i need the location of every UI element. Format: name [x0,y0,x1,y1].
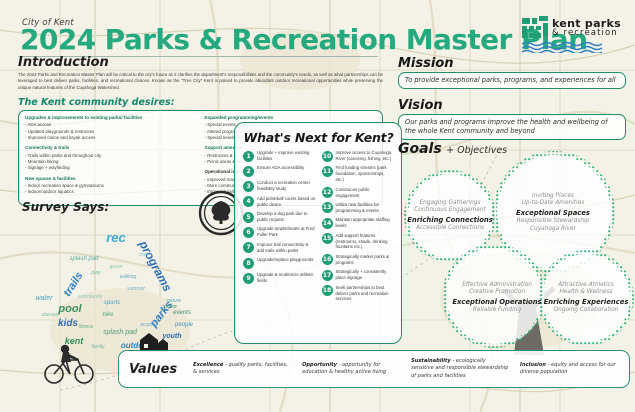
item-text: Develop a dog park due to public request [257,211,316,223]
item-text: Upgrade amphitheatre at Fred Fuller Park [257,226,316,238]
whats-next-item[interactable]: 4Add pickleball courts based on public d… [243,196,316,208]
vision-heading: Vision [398,98,626,113]
desires-list: ADA access Updated playgrounds & restroo… [25,122,197,141]
word-play: play [90,270,101,276]
goal-objective: Ongoing Collaboration [554,307,619,315]
desires-group-heading: New spaces & facilities [25,176,197,182]
goals-heading-bold: Goals [398,141,442,157]
item-number-badge: 4 [243,196,254,207]
item-text: Maintain appropriate staffing levels [336,217,395,229]
value-sustainability: Sustainability - ecologically sensitive … [411,358,510,380]
whats-next-item[interactable]: 11Find funding streams (park foundation,… [322,165,395,183]
value-excellence: Excellence - quality parks, facilities, … [193,362,292,377]
goal-objective: Accessible Connections [416,225,484,233]
value-name: Opportunity [302,362,337,368]
goal-circle-enriching-experiences: Attractive Athletics Health & Wellness E… [538,250,634,346]
whats-next-item[interactable]: 6Upgrade amphitheatre at Fred Fuller Par… [243,226,316,238]
item-text: Continuous public engagement [336,187,395,199]
word-filler-2: river [139,252,149,258]
goal-objective: Attractive Athletics [558,282,614,290]
desires-item: Improved canoe and kayak access [25,135,197,141]
goal-objective: Inviting Places [532,193,574,201]
vision-statement: Our parks and programs improve the healt… [398,114,626,140]
desires-group-heading: Upgrades & improvements to existing park… [25,115,197,121]
item-text: Strategically + consistently place signa… [336,269,395,281]
item-text: Improve trail connectivity & add trails … [257,242,316,254]
item-number-badge: 13 [322,202,333,213]
whats-next-item[interactable]: 12Continuous public engagement [322,187,395,199]
whats-next-item[interactable]: 18Seek partnerships to best deliver park… [322,285,395,303]
word-sports: sports [104,300,120,306]
item-number-badge: 10 [322,151,333,162]
introduction-body: The 2024 Parks and Recreation Master Pla… [18,72,383,91]
word-people: people [174,322,194,328]
item-number-badge: 16 [322,254,333,265]
word-indoor: indoor [163,304,177,310]
word-classes: classes [42,312,59,318]
mission-heading: Mission [398,56,626,71]
goal-objective: Responsible Stewardship [517,218,590,226]
whats-next-item[interactable]: 14Maintain appropriate staffing levels [322,217,395,229]
word-splash-pad: splash pad [69,256,99,262]
survey-word-cloud: rec programs trails pool kids parks wate… [24,216,234,356]
desires-column-left: Upgrades & improvements to existing park… [25,115,197,200]
whats-next-item[interactable]: 10Improve access to Cuyahoga River (cano… [322,150,395,162]
word-summer: summer [127,286,145,292]
goal-objective: Effective Administration [462,282,532,290]
word-access: access [140,322,156,328]
whats-next-panel: What's Next for Kent? 1Upgrade + improve… [234,122,402,344]
word-kids: kids [58,318,78,329]
value-name: Inclusion [520,362,546,368]
item-number-badge: 17 [322,270,333,281]
values-label: Values [129,362,177,377]
whats-next-item[interactable]: 16Strategically market parks & programs [322,254,395,266]
goal-objective: Cuyahoga River [530,226,576,234]
value-name: Excellence [193,362,223,368]
item-number-badge: 8 [243,258,254,269]
goal-circle-exceptional-operations: Effective Administration Creative Promot… [442,246,552,350]
desires-group-heading: Expanded programming/events [205,115,377,121]
item-number-badge: 1 [243,151,254,162]
desires-item: Indoor/outdoor aquatics [25,189,197,195]
whats-next-item[interactable]: 9Upgrade & modernize athletic fields [243,272,316,284]
item-text: Improve access to Cuyahoga River (canoei… [336,150,395,162]
word-filler-1: community [78,294,103,300]
item-text: Utilize new facilities for programming &… [336,202,395,214]
whats-next-item[interactable]: 15Add support features (restrooms, shade… [322,233,395,251]
item-number-badge: 3 [243,181,254,192]
survey-section: Survey Says: [22,200,109,214]
word-bike: bike [102,312,114,318]
community-desires-heading: The Kent community desires: [18,97,383,108]
desires-list: Indoor recreation space & gymnasiums Ind… [25,183,197,196]
word-events: events [173,310,191,316]
whats-next-item[interactable]: 7Improve trail connectivity & add trails… [243,242,316,254]
item-number-badge: 7 [243,242,254,253]
item-number-badge: 9 [243,273,254,284]
word-fitness: fitness [79,324,94,330]
whats-next-item[interactable]: 17Strategically + consistently place sig… [322,269,395,281]
item-number-badge: 18 [322,285,333,296]
whats-next-item[interactable]: 8Upgrade/replace playgrounds [243,257,316,269]
item-number-badge: 12 [322,187,333,198]
whats-next-column-right: 10Improve access to Cuyahoga River (cano… [322,150,395,302]
whats-next-item[interactable]: 1Upgrade + improve existing facilities [243,150,316,162]
desires-item: Signage + wayfinding [25,165,197,171]
goal-objective: Health & Wellness [559,289,612,297]
item-text: Upgrade + improve existing facilities [257,150,316,162]
vision-section: Vision Our parks and programs improve th… [398,98,626,140]
item-text: Add pickleball courts based on public de… [257,196,316,208]
whats-next-item[interactable]: 2Ensure ADA accessibility [243,165,316,177]
survey-heading: Survey Says: [22,200,109,214]
water-waves-icon [522,41,606,53]
goal-name: Enriching Connections [407,216,493,224]
item-text: Strategically market parks & programs [336,254,395,266]
kent-parks-logo: kent parks & recreation [522,16,621,53]
mission-section: Mission To provide exceptional parks, pr… [398,56,626,89]
item-text: Add support features (restrooms, shade, … [336,233,395,251]
page-title: 2024 Parks & Recreation Master Plan [20,26,587,54]
goal-name: Exceptional Operations [452,298,541,306]
cyclist-icon [40,340,100,386]
values-bar: Values Excellence - quality parks, facil… [118,350,630,388]
item-number-badge: 6 [243,227,254,238]
goal-objective: Creative Promotion [469,289,525,297]
mission-statement: To provide exceptional parks, programs, … [398,72,626,89]
word-rec: rec [106,230,126,245]
word-filler-3: green [110,264,123,270]
whats-next-title: What's Next for Kent? [243,130,394,145]
item-text: Find funding streams (park foundation, s… [336,165,395,183]
item-text: Conduct a recreation center feasibility … [257,180,316,192]
desires-list: Trails within parks and throughout city … [25,153,197,172]
word-pool: pool [57,303,82,315]
item-text: Upgrade & modernize athletic fields [257,272,316,284]
item-text: Ensure ADA accessibility [257,165,304,171]
whats-next-item[interactable]: 5Develop a dog park due to public reques… [243,211,316,223]
value-inclusion: Inclusion - equity and access for our di… [520,362,619,377]
value-opportunity: Opportunity - opportunity for education … [302,362,401,377]
item-number-badge: 11 [322,166,333,177]
whats-next-column-left: 1Upgrade + improve existing facilities 2… [243,150,316,302]
item-number-badge: 2 [243,166,254,177]
introduction-heading: Introduction [18,55,383,70]
goals-heading-light: + Objectives [446,145,507,156]
whats-next-item[interactable]: 13Utilize new facilities for programming… [322,202,395,214]
goal-objective: Up-to-Date Amenities [522,200,585,208]
goal-name: Enriching Experiences [544,298,629,306]
goal-objective: Engaging Gatherings [420,200,481,208]
item-number-badge: 15 [322,233,333,244]
item-text: Seek partnerships to best deliver parks … [336,285,395,303]
word-water: water [35,295,53,302]
whats-next-item[interactable]: 3Conduct a recreation center feasibility… [243,180,316,192]
goal-objective: Continuous Engagement [414,207,486,215]
item-number-badge: 5 [243,212,254,223]
word-splash-pad-2: splash pad [103,329,138,336]
logo-line-2: & recreation [552,29,621,38]
desires-group-heading: Connectivity & trails [25,145,197,151]
item-number-badge: 14 [322,218,333,229]
item-text: Upgrade/replace playgrounds [257,257,313,263]
maze-logo-icon [522,16,548,40]
value-name: Sustainability [411,358,451,364]
goal-objective: Reliable Funding [473,307,521,315]
word-walking: walking [120,274,137,280]
goal-name: Exceptional Spaces [516,209,590,217]
goals-heading: Goals + Objectives [398,140,507,158]
